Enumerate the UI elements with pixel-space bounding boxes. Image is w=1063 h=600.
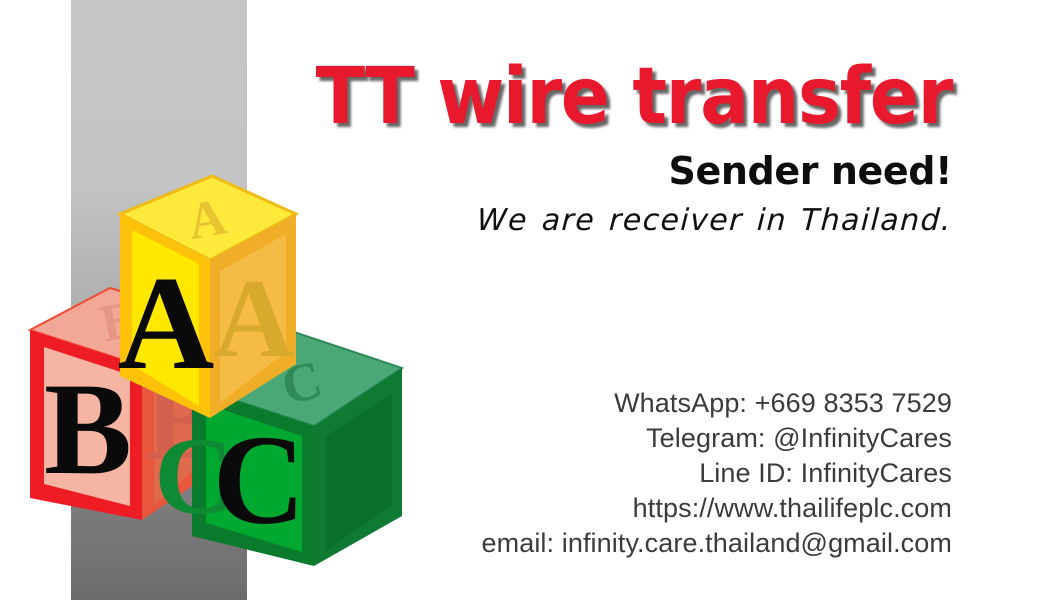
contact-line-email[interactable]: email: infinity.care.thailand@gmail.com — [0, 526, 952, 561]
contact-line-line-id: Line ID: InfinityCares — [0, 456, 952, 491]
contact-line-whatsapp: WhatsApp: +669 8353 7529 — [0, 386, 952, 421]
contact-line-telegram: Telegram: @InfinityCares — [0, 421, 952, 456]
svg-text:A: A — [214, 257, 295, 381]
svg-text:A: A — [118, 249, 215, 397]
contact-line-website[interactable]: https://www.thailifeplc.com — [0, 491, 952, 526]
headline-title: TT wire transfer — [67, 58, 952, 136]
tagline-script: We are receiver in Thailand. — [0, 203, 953, 238]
contact-details-block: WhatsApp: +669 8353 7529 Telegram: @Infi… — [0, 386, 952, 561]
banner-canvas: B B B C C — [0, 0, 1063, 600]
sub-headline: Sender need! — [0, 150, 952, 194]
